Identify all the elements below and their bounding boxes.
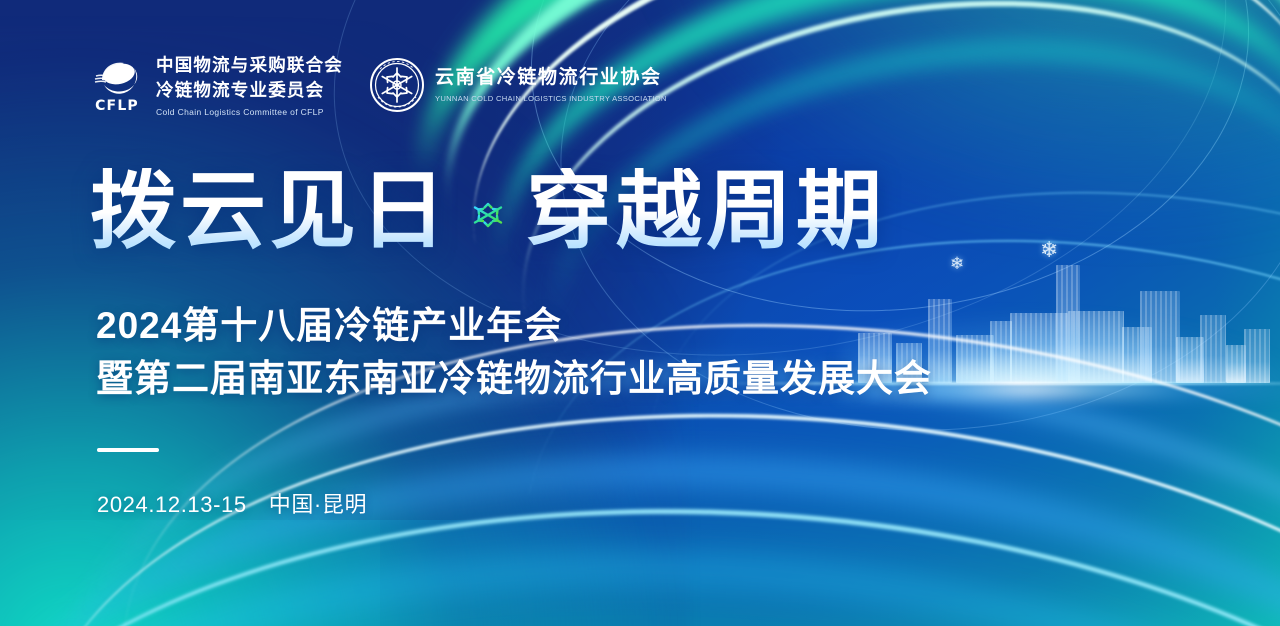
headline: 拨云见日 — [90, 168, 886, 254]
snowflake-icon: ❄ — [950, 255, 964, 272]
subtitle: 2024第十八届冷链产业年会 暨第二届南亚东南亚冷链物流行业高质量发展大会 — [96, 300, 932, 405]
cflp-name-line2: 冷链物流专业委员会 — [156, 79, 343, 101]
snowflake-icon: ❄ — [1040, 239, 1058, 261]
cflp-logo-text: 中国物流与采购联合会 冷链物流专业委员会 Cold Chain Logistic… — [156, 54, 343, 117]
yunnan-name: 云南省冷链物流行业协会 — [435, 67, 667, 90]
organizer-logo-bar: CFLP 中国物流与采购联合会 冷链物流专业委员会 Cold Chain Log… — [88, 54, 667, 117]
subtitle-line2: 暨第二届南亚东南亚冷链物流行业高质量发展大会 — [96, 353, 932, 406]
cflp-english-name: Cold Chain Logistics Committee of CFLP — [156, 107, 343, 117]
cflp-logo: CFLP 中国物流与采购联合会 冷链物流专业委员会 Cold Chain Log… — [88, 54, 343, 117]
subtitle-line1: 2024第十八届冷链产业年会 — [96, 300, 932, 353]
yunnan-logo-text: 云南省冷链物流行业协会 YUNNAN COLD CHAIN LOGISTICS … — [435, 67, 667, 103]
snowflake-icon — [468, 195, 508, 235]
event-details: 2024.12.13-15 中国·昆明 — [97, 487, 367, 519]
cflp-globe-logo: CFLP — [88, 54, 146, 116]
divider-rule — [97, 448, 159, 452]
event-date: 2024.12.13-15 — [97, 492, 247, 518]
cflp-name-line1: 中国物流与采购联合会 — [156, 54, 343, 76]
headline-part2: 穿越周期 — [526, 168, 886, 254]
yunnan-association-logo: 云南省冷链物流行业协会 YUNNAN COLD CHAIN LOGISTICS … — [369, 57, 667, 113]
snowflake-seal-logo — [369, 57, 425, 113]
headline-part1: 拨云见日 — [90, 168, 450, 254]
event-location: 中国·昆明 — [269, 487, 367, 519]
conference-banner: ❄❄ C — [0, 0, 1280, 626]
svg-text:CFLP: CFLP — [95, 98, 139, 114]
yunnan-english-name: YUNNAN COLD CHAIN LOGISTICS INDUSTRY ASS… — [435, 94, 667, 103]
